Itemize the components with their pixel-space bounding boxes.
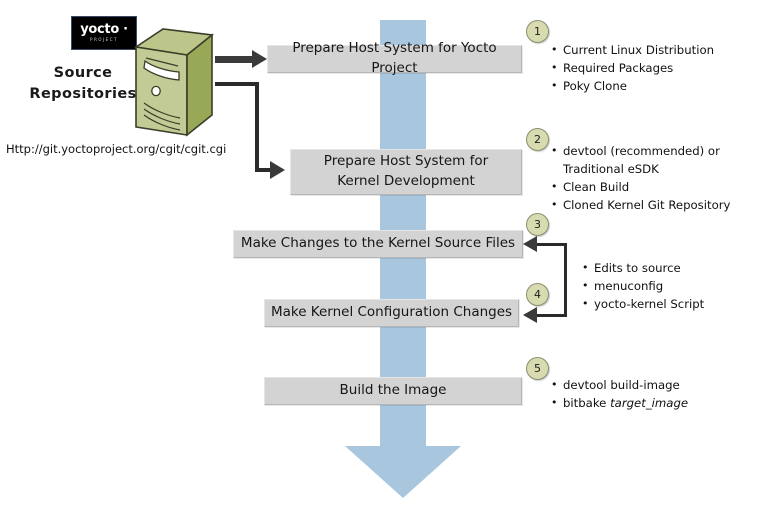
source-repositories-label: Source Repositories [18,63,148,105]
bracket-steps-3-4-bottom-horizontal [537,314,566,317]
list-item: Cloned Kernel Git Repository [551,196,763,214]
yocto-project-logo: yocto · PROJECT [71,16,137,50]
connector-source-to-step2-vertical [255,82,259,172]
diagram-canvas: yocto · PROJECT Source Repositories Http… [0,0,769,517]
step-number-2: 2 [526,128,549,151]
bitbake-label: bitbake [563,396,610,410]
step-1-bullets: Current Linux Distribution Required Pack… [551,41,763,95]
yocto-logo-wordmark: yocto · [80,23,128,36]
bracket-step-4-arrowhead [523,307,537,323]
source-repositories-url: Http://git.yoctoproject.org/cgit/cgit.cg… [6,142,226,156]
bitbake-target-italic: target_image [610,396,688,410]
step-2-bullets: devtool (recommended) or Traditional eSD… [551,142,763,215]
list-item: menuconfig [582,277,762,295]
bracket-steps-3-4-vertical [564,243,567,317]
step-box-4[interactable]: Make Kernel Configuration Changes [264,299,519,327]
list-item: Clean Build [551,178,763,196]
step-number-4: 4 [526,283,549,306]
list-item: bitbake target_image [551,394,763,412]
connector-source-to-step2-arrowhead [270,161,285,179]
step-box-2[interactable]: Prepare Host System for Kernel Developme… [290,149,522,195]
list-item: yocto-kernel Script [582,295,762,313]
step-5-bullets: devtool build-image bitbake target_image [551,376,763,412]
list-item: devtool (recommended) or Traditional eSD… [551,142,763,178]
connector-source-to-step1-arrowhead [252,50,267,68]
bracket-step-3-arrowhead [523,236,537,252]
step-box-1[interactable]: Prepare Host System for Yocto Project [267,45,522,73]
server-tower-icon [133,27,215,139]
yocto-logo-subtitle: PROJECT [90,38,118,42]
step-number-5: 5 [526,357,549,380]
list-item: Required Packages [551,59,763,77]
list-item: Poky Clone [551,77,763,95]
list-item: devtool build-image [551,376,763,394]
step-box-3[interactable]: Make Changes to the Kernel Source Files [233,230,523,258]
step-number-3: 3 [526,213,549,236]
bracket-steps-3-4-top-horizontal [537,243,566,246]
step-number-1: 1 [526,20,549,43]
flow-arrow-head [345,446,461,498]
list-item: Edits to source [582,259,762,277]
list-item: Current Linux Distribution [551,41,763,59]
steps-3-4-bullets: Edits to source menuconfig yocto-kernel … [582,259,762,313]
connector-source-to-step2-horizontal-top [215,82,259,86]
connector-source-to-step1 [215,56,253,63]
step-box-5[interactable]: Build the Image [264,377,522,405]
